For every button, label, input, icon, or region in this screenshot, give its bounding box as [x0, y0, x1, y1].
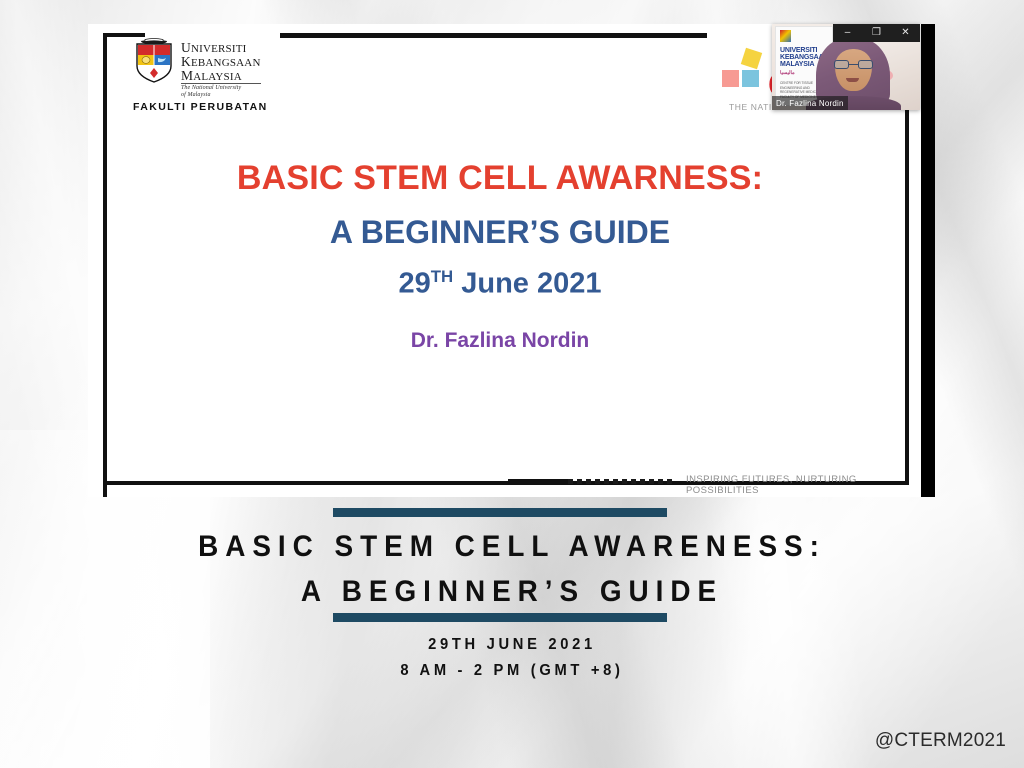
feed-poster-line-4: ماليسيا	[780, 70, 795, 76]
slide-frame-top-right	[280, 33, 707, 38]
poster-date: 29TH JUNE 2021	[428, 636, 596, 653]
ukm-faculty-label: FAKULTI PERUBATAN	[133, 101, 308, 113]
poster-title: BASIC STEM CELL AWARENESS: A BEGINNER’S …	[36, 524, 988, 614]
shared-screen-pillarbox	[921, 24, 935, 497]
feed-poster-logo-icon	[780, 30, 791, 42]
glasses-lens-right	[858, 60, 873, 69]
slide-date: 29TH June 2021	[88, 267, 912, 301]
slide-footer-tagline: INSPIRING FUTURES, NURTURING POSSIBILITI…	[686, 474, 912, 496]
slide-title: BASIC STEM CELL AWARNESS:	[88, 159, 912, 198]
slide-frame-left	[103, 33, 107, 497]
slide-presenter: Dr. Fazlina Nordin	[88, 329, 912, 353]
poster-rule-top	[333, 508, 667, 517]
feed-poster-line-1: UNIVERSITI	[780, 47, 817, 54]
video-call-window[interactable]: UNIVERSITI KEBANGSAAN MALAYSIA ماليسيا C…	[772, 24, 920, 110]
maximize-button[interactable]: ❐	[862, 24, 891, 42]
blue-square	[742, 70, 759, 87]
poster-rule-bottom	[333, 613, 667, 622]
ukm-line-3: MALAYSIA	[181, 69, 261, 83]
slide-date-ordinal: TH	[431, 267, 453, 286]
poster-date-block: 29TH JUNE 2021 8 AM - 2 PM (GMT +8)	[41, 632, 983, 684]
close-button[interactable]: ✕	[891, 24, 920, 42]
slide-date-number: 29	[398, 268, 430, 300]
social-handle: @CTERM2021	[875, 730, 1006, 752]
video-window-titlebar[interactable]: – ❐ ✕	[833, 24, 920, 42]
glasses-icon	[834, 60, 873, 69]
slide-subtitle: A BEGINNER’S GUIDE	[88, 214, 912, 251]
participant-name-label: Dr. Fazlina Nordin	[772, 96, 848, 110]
feed-poster-line-3: MALAYSIA	[780, 61, 814, 68]
ukm-line-1: UUniversitiNIVERSITI	[181, 41, 261, 55]
poster-title-line-1: BASIC STEM CELL AWARENESS:	[198, 530, 826, 563]
cterm-squares-icon	[721, 50, 775, 86]
ukm-line-2: KEBANGSAAN	[181, 55, 261, 69]
poster-time: 8 AM - 2 PM (GMT +8)	[41, 658, 983, 684]
ukm-logo: UUniversitiNIVERSITI KEBANGSAAN MALAYSIA…	[133, 38, 308, 113]
footer-dashed-rule	[568, 479, 673, 484]
yellow-square	[741, 48, 762, 69]
face-shape	[835, 49, 872, 91]
ukm-shield-icon	[133, 38, 175, 84]
slide-date-rest: June 2021	[453, 268, 601, 300]
ukm-sub-line: The National University of Malaysia	[181, 83, 261, 98]
poster-page: UUniversitiNIVERSITI KEBANGSAAN MALAYSIA…	[0, 0, 1024, 768]
pink-square	[722, 70, 739, 87]
slide-frame-top-left	[103, 33, 145, 37]
minimize-button[interactable]: –	[833, 24, 862, 42]
ukm-wordmark: UUniversitiNIVERSITI KEBANGSAAN MALAYSIA…	[181, 38, 261, 98]
poster-title-line-2: A BEGINNER’S GUIDE	[36, 569, 988, 614]
glasses-lens-left	[834, 60, 849, 69]
footer-solid-rule	[508, 479, 568, 484]
mouth-shape	[846, 78, 859, 82]
glasses-bridge	[849, 64, 858, 65]
